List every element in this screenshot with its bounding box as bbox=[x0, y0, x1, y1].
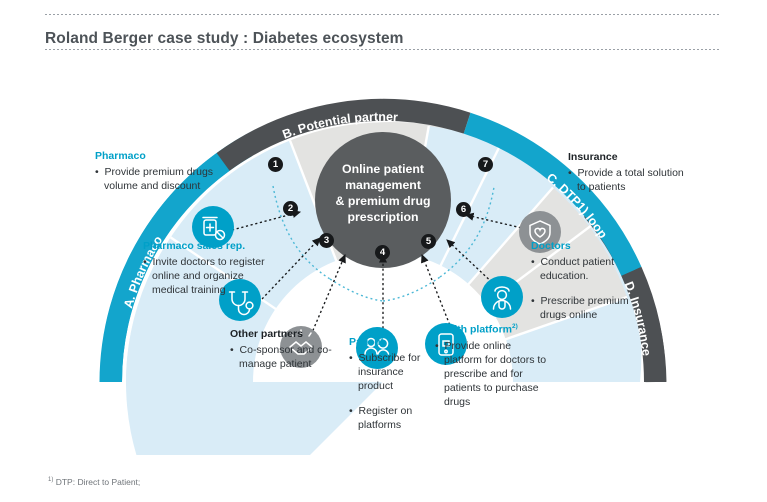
svg-text:management: management bbox=[345, 178, 421, 192]
segment-bullet: Provide online platform for doctors to p… bbox=[435, 339, 550, 409]
segment-bullet: Prescribe premium drugs online bbox=[531, 294, 649, 322]
flow-marker-3[interactable]: 3 bbox=[319, 233, 334, 248]
text-block-insurance: Insurance Provide a total solution to pa… bbox=[568, 151, 693, 194]
footnote-text: DTP: Direct to Patient; bbox=[56, 477, 141, 487]
text-block-other-partners: Other partners Co-sponsor and co-manage … bbox=[230, 328, 358, 371]
segment-bullet: Provide a total solution to patients bbox=[568, 166, 693, 194]
svg-text:& premium drug: & premium drug bbox=[336, 194, 431, 208]
segment-heading-pharmaco-sales-rep: Pharmaco sales rep. bbox=[143, 240, 278, 253]
flow-marker-4[interactable]: 4 bbox=[375, 245, 390, 260]
flow-marker-1[interactable]: 1 bbox=[268, 157, 283, 172]
segment-bullet: Subscribe for insurance product bbox=[349, 351, 431, 393]
segment-heading-health-platform: Health platform2) bbox=[435, 320, 550, 337]
flow-marker-7[interactable]: 7 bbox=[478, 157, 493, 172]
svg-text:prescription: prescription bbox=[347, 210, 418, 224]
segment-heading-patient: Patient bbox=[349, 336, 431, 349]
segment-heading-doctors: Doctors bbox=[531, 240, 649, 253]
text-block-health-platform: Health platform2) Provide online platfor… bbox=[435, 320, 550, 409]
text-block-patient: Patient Subscribe for insurance product … bbox=[349, 336, 431, 432]
flow-marker-5[interactable]: 5 bbox=[421, 234, 436, 249]
text-block-doctors: Doctors Conduct patient education. Presc… bbox=[531, 240, 649, 322]
footnote: 1) DTP: Direct to Patient; bbox=[48, 477, 140, 487]
segment-heading-pharmaco: Pharmaco bbox=[95, 150, 225, 163]
flow-marker-2[interactable]: 2 bbox=[283, 201, 298, 216]
segment-bullet: Invite doctors to register online and or… bbox=[143, 255, 278, 297]
segment-fill-pharmaco bbox=[126, 382, 383, 455]
footnote-ref-2: 2) bbox=[512, 323, 518, 330]
header-divider-top bbox=[45, 14, 720, 15]
segment-heading-insurance: Insurance bbox=[568, 151, 693, 164]
segment-heading-other-partners: Other partners bbox=[230, 328, 358, 341]
header-divider-bottom bbox=[45, 49, 720, 50]
text-block-pharmaco: Pharmaco Provide premium drugs volume an… bbox=[95, 150, 225, 193]
page-title: Roland Berger case study : Diabetes ecos… bbox=[45, 30, 705, 48]
flow-marker-6[interactable]: 6 bbox=[456, 202, 471, 217]
icon-doctor[interactable] bbox=[481, 276, 523, 318]
svg-text:Online patient: Online patient bbox=[342, 162, 424, 176]
footnote-marker: 1) bbox=[48, 477, 53, 483]
segment-bullet: Register on platforms bbox=[349, 404, 431, 432]
segment-bullet: Co-sponsor and co-manage patient bbox=[230, 343, 358, 371]
segment-bullet: Provide premium drugs volume and discoun… bbox=[95, 165, 225, 193]
segment-bullet: Conduct patient education. bbox=[531, 255, 649, 283]
text-block-pharmaco-sales-rep: Pharmaco sales rep. Invite doctors to re… bbox=[143, 240, 278, 297]
